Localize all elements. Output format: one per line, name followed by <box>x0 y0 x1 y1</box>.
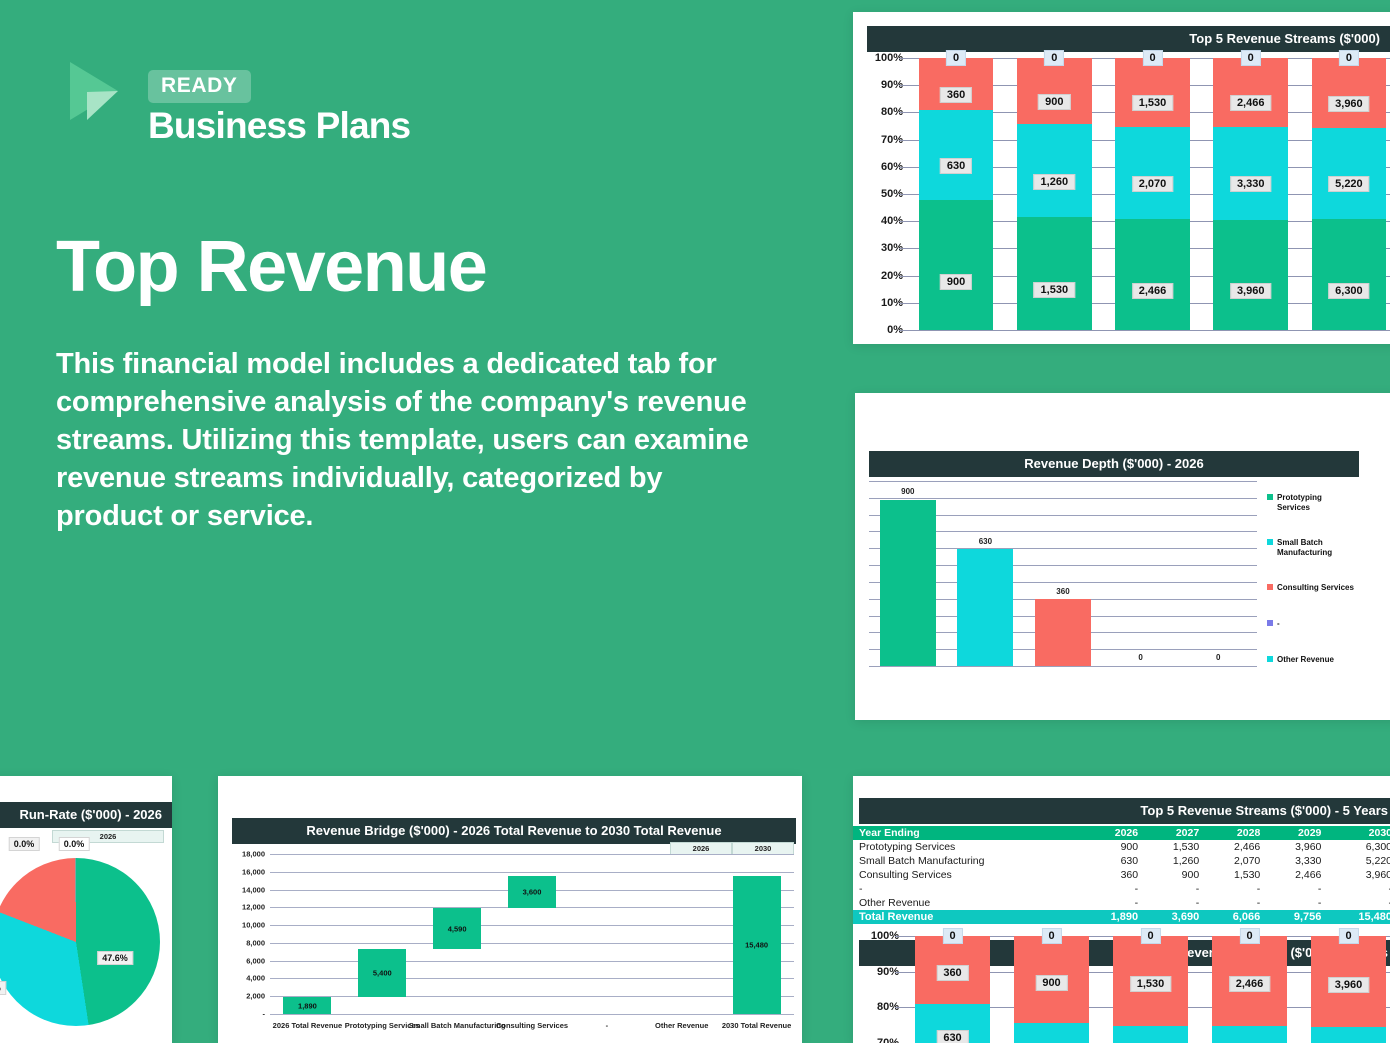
table-cell: - <box>1144 882 1205 896</box>
axis-tick <box>899 112 907 113</box>
table-cell: 1,530 <box>1205 868 1266 882</box>
axis-tick <box>899 248 907 249</box>
data-label: 0 <box>1216 653 1220 662</box>
waterfall-bar[interactable]: 4,590 <box>433 908 481 949</box>
axis-tick <box>899 330 907 331</box>
column-header-year: 2028 <box>1205 826 1266 840</box>
row-label: Other Revenue <box>853 896 1083 910</box>
data-label: 0 <box>1140 928 1160 944</box>
chart-title-run-rate: Run-Rate ($'000) - 2026 <box>0 802 172 828</box>
table-cell: - <box>1205 882 1266 896</box>
bar-segment <box>1115 58 1190 127</box>
bar[interactable] <box>1035 599 1091 666</box>
data-label: 4,590 <box>448 924 467 933</box>
bar-segment <box>1312 219 1387 330</box>
bar[interactable] <box>957 549 1013 666</box>
table-top5-revenue-5years: Year Ending20262027202820292030Prototypi… <box>853 826 1390 924</box>
axis-tick <box>899 194 907 195</box>
data-label: 2,466 <box>1229 976 1271 992</box>
legend-swatch <box>1267 584 1273 590</box>
table-row: Small Batch Manufacturing6301,2602,0703,… <box>853 854 1390 868</box>
y-tick-label: 14,000 <box>242 885 265 894</box>
row-label: Small Batch Manufacturing <box>853 854 1083 868</box>
table-row: Consulting Services3609001,5302,4663,960 <box>853 868 1390 882</box>
bar-columns: 0360630090001,53002,46603,960 <box>903 936 1390 1043</box>
chart-run-rate-pie: 47.6%33.3%19.0%0.0%0.0% <box>0 848 172 1038</box>
table-cell: 900 <box>1144 868 1205 882</box>
bar-column[interactable]: 02,466 <box>1200 936 1299 1043</box>
bar-segment <box>1115 219 1190 330</box>
data-label: 900 <box>901 487 914 496</box>
bar-column[interactable]: Other Revenue <box>644 854 719 1014</box>
bar-segment <box>1312 128 1387 220</box>
row-label: Consulting Services <box>853 868 1083 882</box>
y-axis: 70%80%90%100% <box>859 936 903 1043</box>
legend-label: Small Batch Manufacturing <box>1277 538 1357 557</box>
data-label: 630 <box>979 537 992 546</box>
data-label: 630 <box>940 158 972 174</box>
table-cell: 360 <box>1083 868 1144 882</box>
total-cell: 15,480 <box>1327 910 1390 924</box>
y-tick-label: 18,000 <box>242 850 265 859</box>
bar-segment <box>1311 1027 1386 1043</box>
bar-segment <box>1014 1023 1089 1043</box>
data-label: 2,466 <box>1230 95 1272 111</box>
data-label: 3,960 <box>1328 977 1370 993</box>
legend-label: Other Revenue <box>1277 655 1357 665</box>
bar-segment <box>919 110 994 201</box>
table-cell: - <box>1327 896 1390 910</box>
table-row: ------ <box>853 882 1390 896</box>
chart-legend: Prototyping ServicesSmall Batch Manufact… <box>1267 493 1357 690</box>
table-cell: 2,070 <box>1205 854 1266 868</box>
table-cell: 2,466 <box>1205 840 1266 854</box>
chart-title-revenue-depth: Revenue Depth ($'000) - 2026 <box>869 451 1359 477</box>
bar-column[interactable]: 09001,2601,530 <box>1005 58 1103 330</box>
plot-area: 90063036000 <box>869 481 1257 666</box>
total-cell: 3,690 <box>1144 910 1205 924</box>
data-label: 0 <box>1339 50 1359 66</box>
brand-name: Business Plans <box>148 107 410 144</box>
brand-text: READY Business Plans <box>148 52 410 144</box>
waterfall-bar[interactable]: 15,480 <box>733 876 781 1014</box>
pie-slice-label: 0.0% <box>59 837 90 851</box>
data-label: 0 <box>1138 653 1142 662</box>
data-label: 1,260 <box>1034 174 1076 190</box>
table-cell: 2,466 <box>1266 868 1327 882</box>
bar-column[interactable]: 4,590Small Batch Manufacturing <box>420 854 495 1014</box>
table-cell: - <box>1205 896 1266 910</box>
data-label: 0 <box>1041 928 1061 944</box>
pie-slice-label: 0.0% <box>9 837 40 851</box>
legend-item[interactable]: Other Revenue <box>1267 655 1357 665</box>
column-header-year: 2026 <box>1083 826 1144 840</box>
bar-segment <box>919 200 994 330</box>
bar-column[interactable]: 0 <box>1179 481 1257 666</box>
legend-label: Prototyping Services <box>1277 493 1357 512</box>
axis-tick <box>899 140 907 141</box>
legend-swatch <box>1267 620 1273 626</box>
plot-area: 036063090009001,2601,53001,5302,0702,466… <box>907 58 1390 330</box>
legend-swatch <box>1267 539 1273 545</box>
data-label: 2,466 <box>1132 283 1174 299</box>
data-label: 1,530 <box>1130 976 1172 992</box>
table-cell: 1,530 <box>1144 840 1205 854</box>
panel-top5-revenue-streams: Top 5 Revenue Streams ($'000) 0%10%20%30… <box>853 12 1390 344</box>
data-label: 1,530 <box>1132 95 1174 111</box>
axis-tick <box>895 936 903 937</box>
bar-column[interactable]: 360 <box>1024 481 1102 666</box>
bar-column[interactable]: 03,9605,2206,300 <box>1300 58 1390 330</box>
table-cell: - <box>1083 882 1144 896</box>
hero-description: This financial model includes a dedicate… <box>56 346 756 536</box>
axis-tick <box>899 167 907 168</box>
bar-column[interactable]: 02,4663,3303,960 <box>1202 58 1300 330</box>
panel-revenue-bridge: Revenue Bridge ($'000) - 2026 Total Reve… <box>218 776 802 1043</box>
data-label: 900 <box>1035 975 1067 991</box>
bar-column[interactable]: 1,8902026 Total Revenue <box>270 854 345 1014</box>
chart-title-revenue-bridge: Revenue Bridge ($'000) - 2026 Total Reve… <box>232 818 796 844</box>
y-tick-label: 4,000 <box>246 974 265 983</box>
table-cell: 3,960 <box>1327 868 1390 882</box>
bar-segment <box>1312 58 1387 128</box>
chart-top5-stacked-5years: 70%80%90%100%0360630090001,53002,46603,9… <box>859 936 1390 1043</box>
bar-column[interactable]: 01,5302,0702,466 <box>1103 58 1201 330</box>
column-header-year: 2030 <box>1327 826 1390 840</box>
legend-swatch <box>1267 656 1273 662</box>
bar-columns: 1,8902026 Total Revenue5,400Prototyping … <box>270 854 794 1014</box>
legend-item[interactable]: Prototyping Services <box>1267 493 1357 512</box>
play-triangle-icon <box>56 52 134 130</box>
stacked-bar[interactable] <box>915 936 990 1043</box>
y-tick-label: 2,000 <box>246 992 265 1001</box>
bar-segment <box>1115 127 1190 220</box>
data-label: 3,960 <box>1230 283 1272 299</box>
axis-tick <box>899 303 907 304</box>
x-tick-label: Consulting Services <box>496 1021 568 1030</box>
bar-segment <box>1017 58 1092 124</box>
bar-segment <box>1113 1026 1188 1043</box>
bar-segment <box>1017 217 1092 330</box>
x-tick-label: 2026 Total Revenue <box>273 1021 342 1030</box>
axis-tick <box>899 221 907 222</box>
data-label: 1,890 <box>298 1001 317 1010</box>
brand-logo: READY Business Plans <box>56 52 816 144</box>
table-cell: 3,960 <box>1266 840 1327 854</box>
data-label: 360 <box>936 965 968 981</box>
ready-badge: READY <box>148 70 251 103</box>
hero-section: READY Business Plans Top Revenue This fi… <box>56 52 816 536</box>
table-cell: - <box>1266 896 1327 910</box>
y-tick-label: 10,000 <box>242 921 265 930</box>
total-cell: 9,756 <box>1266 910 1327 924</box>
data-label: 1,530 <box>1034 282 1076 298</box>
bar-segment <box>1213 127 1288 220</box>
data-label: 360 <box>1056 587 1069 596</box>
data-label: 5,400 <box>373 969 392 978</box>
row-label: - <box>853 882 1083 896</box>
total-cell: 6,066 <box>1205 910 1266 924</box>
bar-column[interactable]: 01,530 <box>1101 936 1200 1043</box>
legend-swatch <box>1267 494 1273 500</box>
row-label: Prototyping Services <box>853 840 1083 854</box>
table-header-row: Year Ending20262027202820292030 <box>853 826 1390 840</box>
data-label: 6,300 <box>1328 283 1370 299</box>
bar-column[interactable]: 630 <box>947 481 1025 666</box>
bar-columns: 90063036000 <box>869 481 1257 666</box>
data-label: 0 <box>1239 928 1259 944</box>
plot-area: 0360630090001,53002,46603,960 <box>903 936 1390 1043</box>
page-title: Top Revenue <box>56 230 816 306</box>
gridline <box>869 666 1257 667</box>
y-tick-label: 16,000 <box>242 867 265 876</box>
chart-title-top5: Top 5 Revenue Streams ($'000) <box>867 26 1390 52</box>
bar-column[interactable]: 5,400Prototyping Services <box>345 854 420 1014</box>
data-label: 900 <box>940 274 972 290</box>
chart-revenue-depth: 90063036000Prototyping ServicesSmall Bat… <box>869 481 1390 686</box>
legend-label: - <box>1277 619 1357 629</box>
bar-column[interactable]: 0360630 <box>903 936 1002 1043</box>
legend-item[interactable]: Small Batch Manufacturing <box>1267 538 1357 557</box>
data-label: 3,600 <box>523 888 542 897</box>
bar-column[interactable]: 0 <box>1102 481 1180 666</box>
bar-segment <box>1212 1026 1287 1043</box>
x-tick-label: - <box>606 1021 609 1030</box>
axis-tick <box>899 58 907 59</box>
bar-segment <box>1017 124 1092 217</box>
chart-revenue-bridge-waterfall: -2,0004,0006,0008,00010,00012,00014,0001… <box>226 854 794 1014</box>
axis-tick <box>895 1007 903 1008</box>
total-label: Total Revenue <box>853 910 1083 924</box>
table-cell: 630 <box>1083 854 1144 868</box>
panel-revenue-depth: Revenue Depth ($'000) - 2026 90063036000… <box>855 393 1390 720</box>
bar[interactable] <box>880 500 936 667</box>
total-cell: 1,890 <box>1083 910 1144 924</box>
data-label: 630 <box>936 1030 968 1043</box>
table-cell: 6,300 <box>1327 840 1390 854</box>
chart-top5-stacked: 0%10%20%30%40%50%60%70%80%90%100%0360630… <box>863 58 1390 330</box>
y-tick-label: - <box>263 1010 266 1019</box>
table-row: Prototyping Services9001,5302,4663,9606,… <box>853 840 1390 854</box>
pie-chart[interactable] <box>0 858 160 1026</box>
y-tick-label: 6,000 <box>246 956 265 965</box>
data-label: 0 <box>1241 50 1261 66</box>
axis-tick <box>895 972 903 973</box>
table-cell: 1,260 <box>1144 854 1205 868</box>
waterfall-bar[interactable]: 3,600 <box>508 876 556 908</box>
data-label: 0 <box>942 928 962 944</box>
table-cell: - <box>1327 882 1390 896</box>
bar-column[interactable]: 0900 <box>1002 936 1101 1043</box>
bar-column[interactable]: 900 <box>869 481 947 666</box>
table-cell: 5,220 <box>1327 854 1390 868</box>
axis-tick <box>899 276 907 277</box>
data-label: 2,070 <box>1132 176 1174 192</box>
data-label: 15,480 <box>745 941 768 950</box>
plot-area: 1,8902026 Total Revenue5,400Prototyping … <box>270 854 794 1014</box>
x-tick-label: 2030 Total Revenue <box>722 1021 791 1030</box>
waterfall-bar[interactable]: 1,890 <box>283 997 331 1014</box>
table-cell: 3,330 <box>1266 854 1327 868</box>
bar-columns: 036063090009001,2601,53001,5302,0702,466… <box>907 58 1390 330</box>
column-header-year: 2029 <box>1266 826 1327 840</box>
x-tick-label: Small Batch Manufacturing <box>409 1021 506 1030</box>
table-total-row: Total Revenue1,8903,6906,0669,75615,480 <box>853 910 1390 924</box>
bar-column[interactable]: 03,960 <box>1299 936 1390 1043</box>
bar-column[interactable]: 15,4802030 Total Revenue <box>719 854 794 1014</box>
legend-label: Consulting Services <box>1277 583 1357 593</box>
y-tick-label: 12,000 <box>242 903 265 912</box>
data-label: 5,220 <box>1328 176 1370 192</box>
panel-run-rate: Run-Rate ($'000) - 2026 2026 47.6%33.3%1… <box>0 776 172 1043</box>
data-label: 0 <box>1142 50 1162 66</box>
data-label: 900 <box>1038 94 1070 110</box>
bar-column[interactable]: - <box>569 854 644 1014</box>
data-label: 3,330 <box>1230 176 1272 192</box>
bar-column[interactable]: 3,600Consulting Services <box>495 854 570 1014</box>
table-title-top5-5yr: Top 5 Revenue Streams ($'000) - 5 Years <box>859 798 1390 824</box>
bar-segment <box>1213 58 1288 127</box>
table-cell: 900 <box>1083 840 1144 854</box>
waterfall-bar[interactable]: 5,400 <box>358 949 406 997</box>
y-axis: -2,0004,0006,0008,00010,00012,00014,0001… <box>226 854 268 1014</box>
table-cell: - <box>1266 882 1327 896</box>
table-cell: - <box>1083 896 1144 910</box>
data-label: 3,960 <box>1328 96 1370 112</box>
table-cell: - <box>1144 896 1205 910</box>
axis-tick <box>899 85 907 86</box>
x-tick-label: Other Revenue <box>655 1021 708 1030</box>
bar-column[interactable]: 0360630900 <box>907 58 1005 330</box>
gridline <box>270 1014 794 1015</box>
data-label: 0 <box>946 50 966 66</box>
y-tick-label: 8,000 <box>246 938 265 947</box>
data-label: 0 <box>1338 928 1358 944</box>
column-header-year: 2027 <box>1144 826 1205 840</box>
table-row: Other Revenue----- <box>853 896 1390 910</box>
bar-segment <box>1213 220 1288 330</box>
legend-item[interactable]: Consulting Services <box>1267 583 1357 593</box>
legend-item[interactable]: - <box>1267 619 1357 629</box>
data-label: 0 <box>1044 50 1064 66</box>
column-header-year-ending: Year Ending <box>853 826 1083 840</box>
pie-slice-label: 47.6% <box>97 951 133 965</box>
gridline <box>907 330 1390 331</box>
data-label: 360 <box>940 87 972 103</box>
pie-slice-label: 33.3% <box>0 981 6 995</box>
panel-top5-5years: Top 5 Revenue Streams ($'000) - 5 Years … <box>853 776 1390 1043</box>
